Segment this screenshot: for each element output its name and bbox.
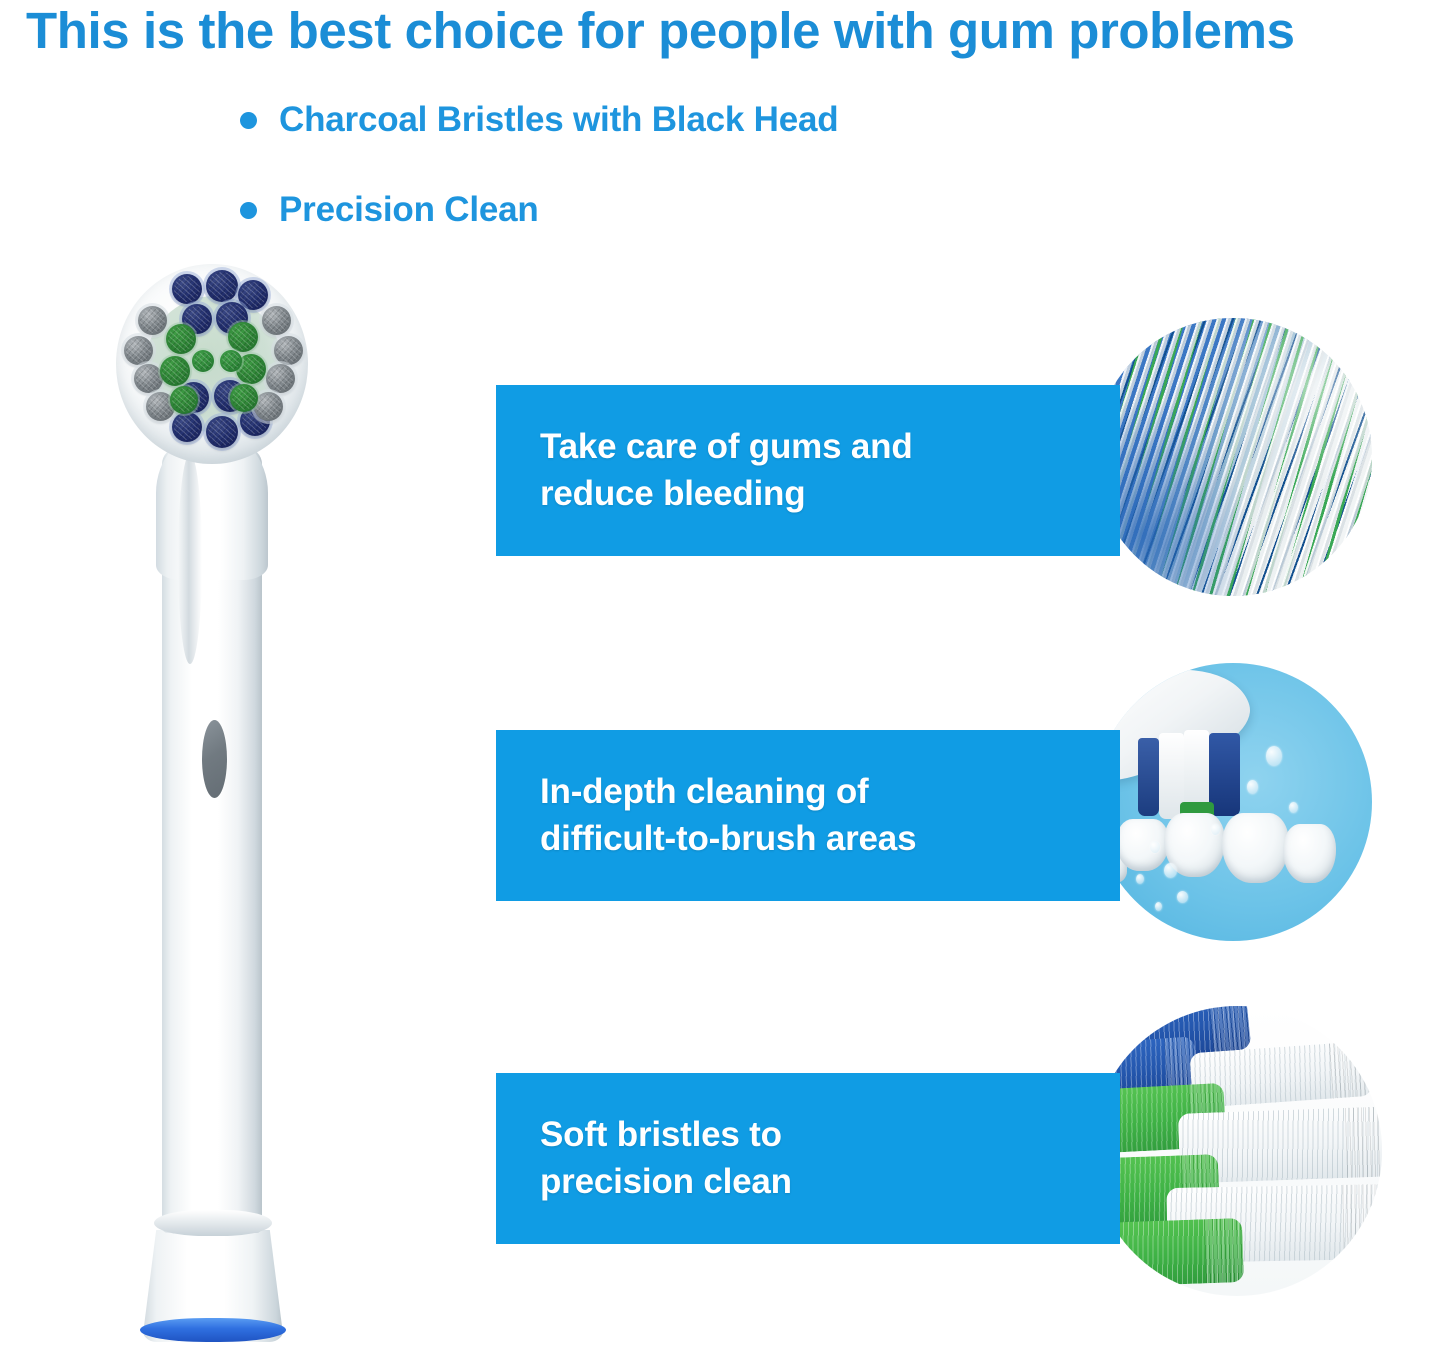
bristle-tuft-green [228, 322, 258, 352]
brush-head-cleaning-teeth-photo [1094, 663, 1372, 941]
page-title: This is the best choice for people with … [26, 2, 1426, 61]
tooth-shape [1116, 819, 1169, 872]
bristle-bundles-photo [1092, 1006, 1382, 1296]
neck-groove [178, 454, 202, 664]
bristle-macro-photo [1094, 318, 1372, 596]
bristle-tip [1207, 1006, 1251, 1053]
tooth-shape [1222, 813, 1289, 883]
bristle-tuft-charcoal [262, 306, 291, 335]
bristle-tuft-green [160, 356, 190, 386]
bristle-tuft-green-center [192, 350, 214, 372]
bristle-tuft-charcoal [124, 336, 153, 365]
bristle-tuft-navy [206, 416, 238, 448]
water-droplet [1150, 841, 1160, 853]
feature-bullet-precision-clean: Precision Clean [240, 190, 539, 230]
feature-callout-bar: Soft bristles to precision clean [496, 1073, 1120, 1244]
water-droplet [1289, 802, 1298, 813]
water-droplet [1247, 780, 1258, 794]
bristle-tuft-navy [172, 274, 202, 304]
bristle-tuft-green-center [220, 350, 242, 372]
handle-collar [154, 1210, 272, 1236]
feature-image-cleaning-teeth [1094, 663, 1372, 941]
feature-callout-bar: In-depth cleaning of difficult-to-brush … [496, 730, 1120, 901]
base-blue-ring [140, 1318, 286, 1342]
feature-callout-text: Take care of gums and reduce bleeding [540, 424, 913, 516]
grip-indicator-oval [202, 720, 227, 798]
feature-image-bristle-macro [1094, 318, 1372, 596]
bullet-dot-icon [240, 202, 257, 219]
bristle-tuft-charcoal [134, 364, 163, 393]
feature-bullet-charcoal: Charcoal Bristles with Black Head [240, 100, 838, 140]
bristle-block-blue [1138, 738, 1159, 816]
bullet-label: Precision Clean [279, 190, 539, 230]
bristle-tip [1329, 1040, 1372, 1098]
bristle-tip [1203, 1218, 1243, 1283]
water-droplet [1164, 863, 1177, 878]
water-droplet [1136, 874, 1144, 884]
toothbrush-illustration [110, 258, 350, 1346]
feature-image-bristle-bundles [1092, 1006, 1382, 1296]
bristle-tuft-green [166, 324, 196, 354]
brush-head-disc [116, 264, 308, 464]
bristle-tuft-green [170, 386, 198, 414]
bristle-tuft-charcoal [254, 392, 283, 421]
water-droplet [1266, 746, 1282, 766]
bullet-label: Charcoal Bristles with Black Head [279, 100, 838, 140]
bristle-tip [1345, 1107, 1382, 1178]
bristle-block-blue [1209, 733, 1240, 816]
bristle-tuft-navy [206, 270, 238, 302]
bullet-dot-icon [240, 112, 257, 129]
feature-callout-text: Soft bristles to precision clean [540, 1112, 792, 1204]
product-infographic: This is the best choice for people with … [0, 0, 1445, 1346]
feature-callout-text: In-depth cleaning of difficult-to-brush … [540, 769, 916, 861]
bristle-tuft-navy [172, 412, 202, 442]
bristle-tip [1343, 1184, 1382, 1260]
bristle-tuft-charcoal [266, 364, 295, 393]
feature-callout-bar: Take care of gums and reduce bleeding [496, 385, 1120, 556]
tooth-shape [1283, 824, 1336, 882]
water-droplet [1211, 824, 1220, 835]
bristle-tuft-charcoal [274, 336, 303, 365]
water-droplet [1177, 891, 1188, 903]
bristle-tuft-green [230, 384, 258, 412]
water-droplet [1155, 902, 1162, 911]
bristle-tuft-charcoal [138, 306, 167, 335]
